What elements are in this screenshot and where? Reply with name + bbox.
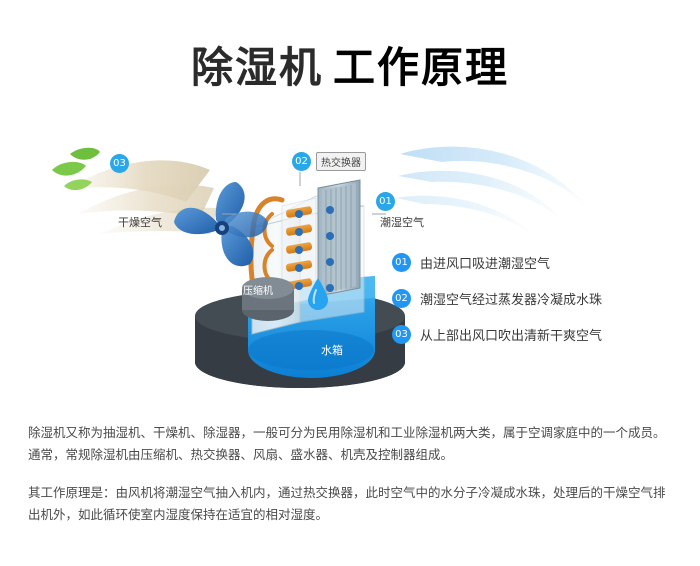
label-water-tank: 水箱 [321, 342, 343, 358]
page-title: 除湿机工作原理 [0, 34, 700, 95]
label-dry-air: 干燥空气 [118, 214, 162, 230]
legend-label-02: 潮湿空气经过蒸发器冷凝成水珠 [420, 289, 602, 308]
title-part2: 工作原理 [333, 43, 509, 92]
badge-01-illustration: 01 [376, 192, 395, 211]
legend-badge-01: 01 [392, 253, 411, 272]
legend-item-01: 01 由进风口吸进潮湿空气 [392, 252, 692, 272]
legend-badge-03: 03 [392, 325, 411, 344]
page-root: 除湿机工作原理 [0, 0, 700, 566]
label-humid-air: 潮湿空气 [380, 214, 424, 230]
legend-label-03: 从上部出风口吹出清新干爽空气 [420, 325, 602, 344]
legend-item-03: 03 从上部出风口吹出清新干爽空气 [392, 324, 692, 344]
description-paragraph-2: 其工作原理是：由风机将潮湿空气抽入机内，通过热交换器，此时空气中的水分子冷凝成水… [28, 482, 673, 526]
description-paragraph-1: 除湿机又称为抽湿机、干燥机、除湿器，一般可分为民用除湿机和工业除湿机两大类，属于… [28, 422, 673, 466]
description-text: 除湿机又称为抽湿机、干燥机、除湿器，一般可分为民用除湿机和工业除湿机两大类，属于… [28, 422, 673, 526]
legend-label-01: 由进风口吸进潮湿空气 [420, 253, 550, 272]
legend-item-02: 02 潮湿空气经过蒸发器冷凝成水珠 [392, 288, 692, 308]
label-compressor: 压缩机 [243, 282, 273, 297]
badge-03-illustration: 03 [110, 154, 129, 173]
label-heat-exchanger: 热交换器 [316, 152, 366, 171]
badge-02-illustration: 02 [292, 152, 311, 171]
legend-list: 01 由进风口吸进潮湿空气 02 潮湿空气经过蒸发器冷凝成水珠 03 从上部出风… [392, 252, 692, 360]
legend-badge-02: 02 [392, 289, 411, 308]
title-part1: 除湿机 [191, 43, 323, 92]
humid-air-stream [396, 147, 586, 236]
evaporator-fins [318, 180, 360, 296]
